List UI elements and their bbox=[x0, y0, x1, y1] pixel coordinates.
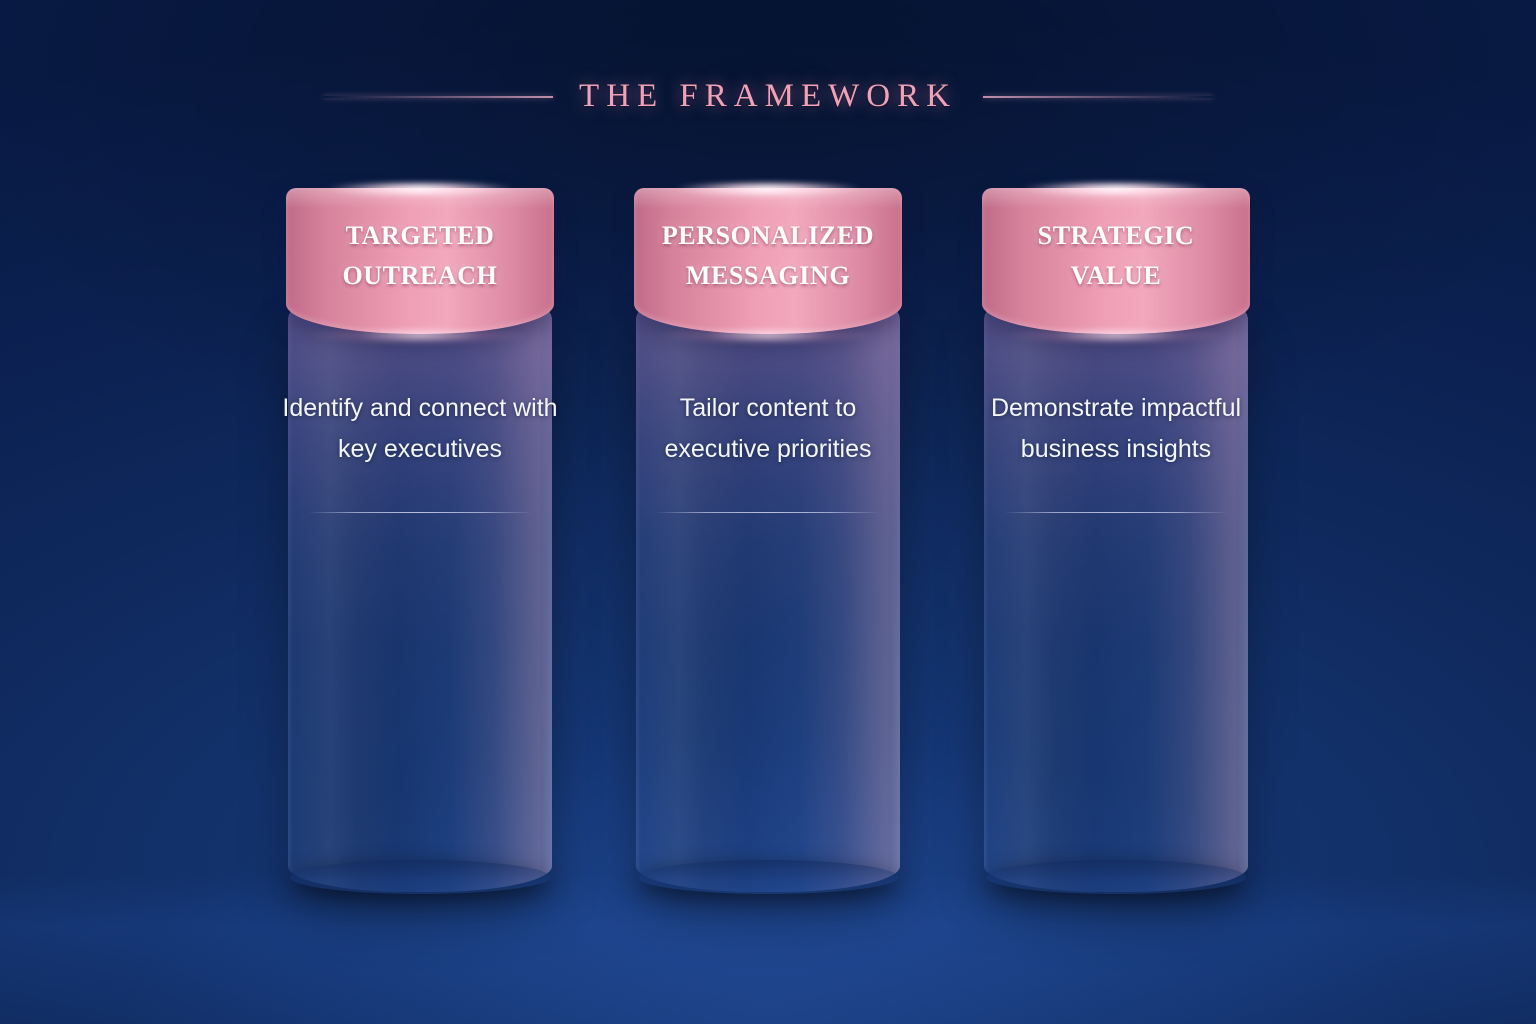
framework-card-1[interactable]: TARGETED OUTREACH Identify and connect w… bbox=[286, 188, 554, 892]
card-title-1: TARGETED OUTREACH bbox=[300, 216, 540, 295]
card-header-1: TARGETED OUTREACH bbox=[286, 188, 554, 334]
card-description-2: Tailor content to executive priorities bbox=[626, 388, 910, 469]
framework-slide: THE FRAMEWORK TARGETED OUTREACH Identify… bbox=[0, 0, 1536, 1024]
card-divider-1 bbox=[308, 512, 532, 513]
page-title: THE FRAMEWORK bbox=[579, 78, 957, 115]
card-divider-3 bbox=[1004, 512, 1228, 513]
title-rule-left bbox=[323, 96, 553, 98]
framework-card-list: TARGETED OUTREACH Identify and connect w… bbox=[0, 188, 1536, 892]
title-rule-right bbox=[983, 96, 1213, 98]
card-description-1: Identify and connect with key executives bbox=[278, 388, 562, 469]
card-divider-2 bbox=[656, 512, 880, 513]
card-header-2: PERSONALIZED MESSAGING bbox=[634, 188, 902, 334]
card-header-3: STRATEGIC VALUE bbox=[982, 188, 1250, 334]
card-title-3: STRATEGIC VALUE bbox=[996, 216, 1236, 295]
card-description-3: Demonstrate impactful business insights bbox=[974, 388, 1258, 469]
card-title-2: PERSONALIZED MESSAGING bbox=[648, 216, 888, 295]
framework-card-3[interactable]: STRATEGIC VALUE Demonstrate impactful bu… bbox=[982, 188, 1250, 892]
floor-reflection bbox=[0, 874, 1536, 1024]
slide-title-row: THE FRAMEWORK bbox=[0, 78, 1536, 115]
framework-card-2[interactable]: PERSONALIZED MESSAGING Tailor content to… bbox=[634, 188, 902, 892]
